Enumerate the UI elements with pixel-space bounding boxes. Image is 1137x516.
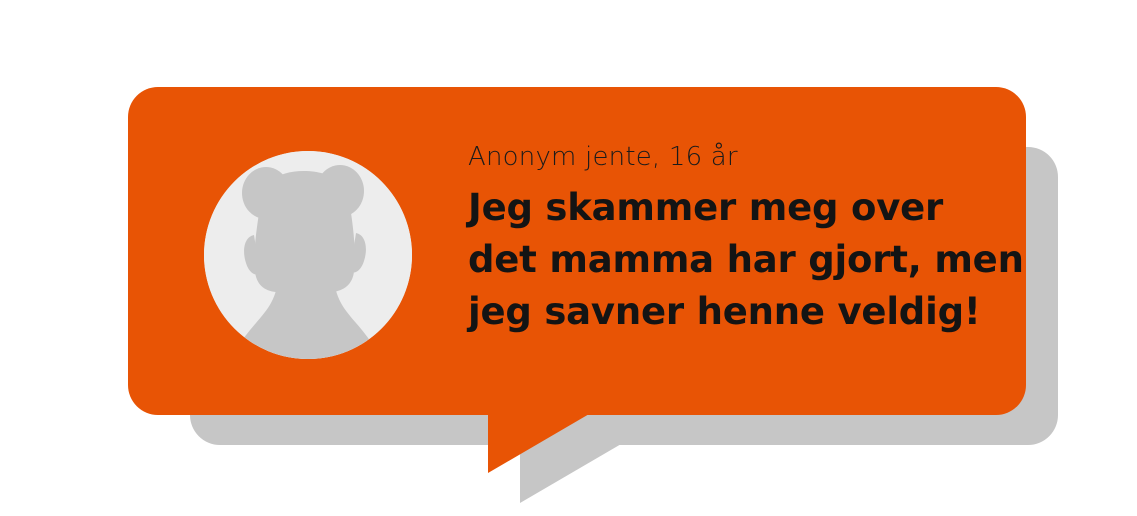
- quote-text-block: Anonym jente, 16 år Jeg skammer meg over…: [468, 140, 998, 338]
- quote-line: Jeg skammer meg over: [468, 182, 998, 234]
- quote-text: Jeg skammer meg over det mamma har gjort…: [468, 182, 998, 338]
- quote-attribution: Anonym jente, 16 år: [468, 140, 998, 174]
- quote-line: det mamma har gjort, men: [468, 234, 998, 286]
- avatar: [204, 151, 412, 359]
- quote-line: jeg savner henne veldig!: [468, 286, 998, 338]
- anonymous-person-silhouette-icon: [204, 151, 412, 359]
- quote-card: Anonym jente, 16 år Jeg skammer meg over…: [0, 0, 1137, 516]
